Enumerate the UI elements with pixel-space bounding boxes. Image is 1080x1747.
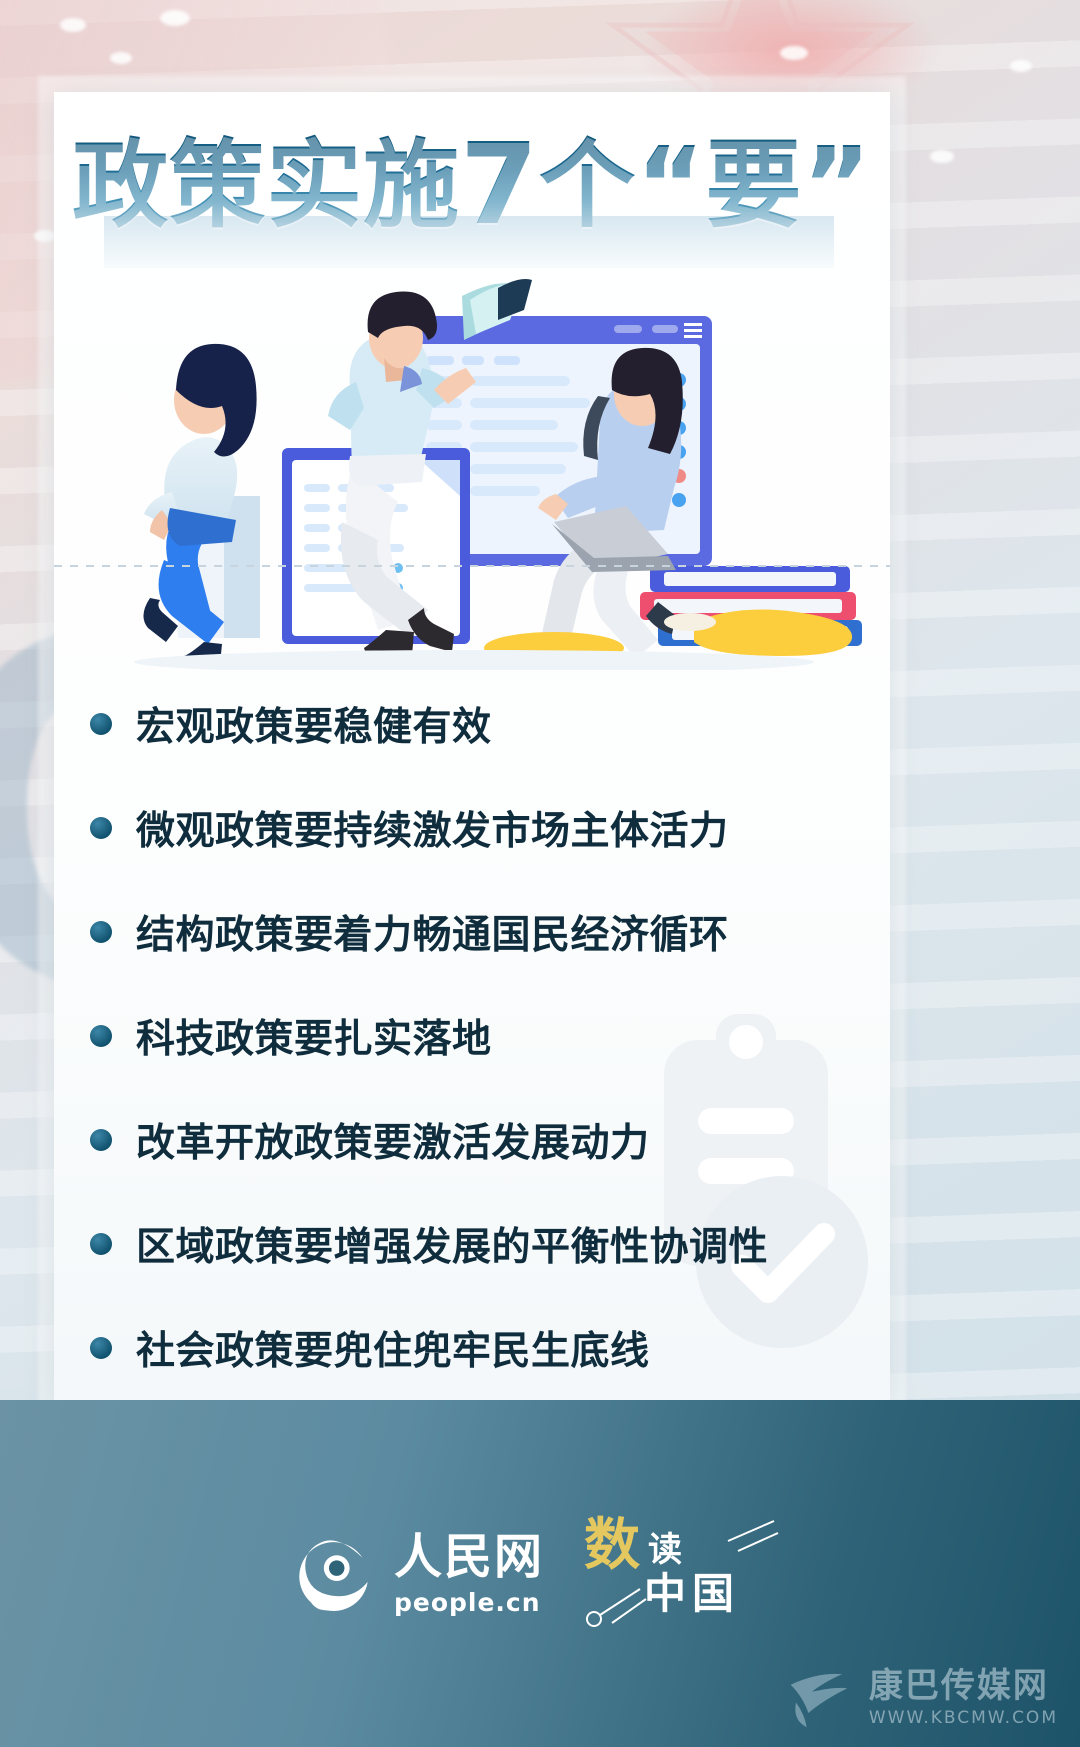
- policy-list: 宏观政策要稳健有效 微观政策要持续激发市场主体活力 结构政策要着力畅通国民经济循…: [90, 672, 850, 1400]
- poster-root: C 政策实施7个“要”: [0, 0, 1080, 1747]
- list-item[interactable]: 科技政策要扎实落地: [90, 984, 850, 1088]
- list-item-label: 改革开放政策要激活发展动力: [136, 1112, 650, 1168]
- title-number: 7: [460, 129, 539, 241]
- brand-char-shu: 数: [584, 1517, 640, 1573]
- people-cn-logo[interactable]: 人民网 people.cn: [292, 1532, 544, 1618]
- kbcmw-logo-icon: [783, 1667, 855, 1729]
- list-item[interactable]: 结构政策要着力畅通国民经济循环: [90, 880, 850, 984]
- people-globe-icon: [292, 1532, 378, 1618]
- footer-bar: 人民网 people.cn 数 读: [0, 1400, 1080, 1747]
- watermark-url: WWW.KBCMW.COM: [869, 1708, 1058, 1728]
- page-title: 政策实施7个“要”: [54, 120, 890, 250]
- list-item[interactable]: 区域政策要增强发展的平衡性协调性: [90, 1192, 850, 1296]
- list-item-label: 科技政策要扎实落地: [136, 1008, 492, 1064]
- bullet-dot-icon: [90, 1025, 112, 1047]
- list-item-label: 宏观政策要稳健有效: [136, 696, 492, 752]
- brand-shudu-zhongguo: 数 读 中国: [578, 1515, 788, 1635]
- bullet-dot-icon: [90, 1233, 112, 1255]
- title-keyword: 要: [705, 137, 802, 233]
- title-main-text: 政策实施: [72, 137, 460, 233]
- list-item-label: 区域政策要增强发展的平衡性协调性: [136, 1216, 768, 1272]
- watermark-name: 康巴传媒网: [869, 1669, 1058, 1703]
- list-item-label: 微观政策要持续激发市场主体活力: [136, 800, 729, 856]
- list-item[interactable]: 宏观政策要稳健有效: [90, 672, 850, 776]
- publisher-name-en: people.cn: [394, 1588, 541, 1617]
- list-item[interactable]: 社会政策要兜住兜牢民生底线: [90, 1296, 850, 1400]
- list-item[interactable]: 改革开放政策要激活发展动力: [90, 1088, 850, 1192]
- title-unit: 个: [539, 137, 636, 233]
- list-item-label: 结构政策要着力畅通国民经济循环: [136, 904, 729, 960]
- brand-line-zhongguo: 中国: [644, 1573, 740, 1615]
- title-quote-close: ”: [802, 133, 871, 237]
- site-watermark: 康巴传媒网 WWW.KBCMW.COM: [783, 1667, 1058, 1729]
- bullet-dot-icon: [90, 817, 112, 839]
- title-quote-open: “: [636, 133, 705, 237]
- list-item[interactable]: 微观政策要持续激发市场主体活力: [90, 776, 850, 880]
- bullet-dot-icon: [90, 1129, 112, 1151]
- bullet-dot-icon: [90, 921, 112, 943]
- hero-illustration: [54, 270, 890, 670]
- publisher-name-cn: 人民网: [394, 1533, 544, 1581]
- bullet-dot-icon: [90, 1337, 112, 1359]
- title-block: 政策实施7个“要”: [54, 120, 890, 280]
- list-item-label: 社会政策要兜住兜牢民生底线: [136, 1320, 650, 1376]
- bullet-dot-icon: [90, 713, 112, 735]
- brand-char-du: 读: [648, 1533, 682, 1573]
